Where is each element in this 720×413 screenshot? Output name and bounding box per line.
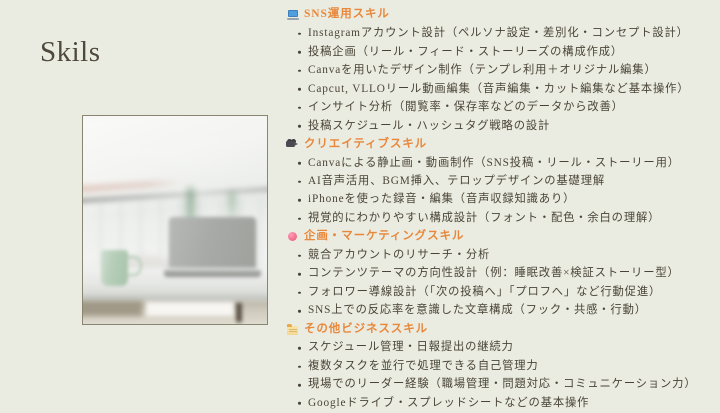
group-heading-marketing: 企画・マーケティングスキル <box>286 228 716 247</box>
skill-group-business: その他ビジネススキル スケジュール管理・日報提出の継続力 複数タスクを並行で処理… <box>286 320 716 412</box>
list-item: 視覚的にわかりやすい構成設計（フォント・配色・余白の理解） <box>297 209 716 227</box>
skill-group-marketing: 企画・マーケティングスキル 競合アカウントのリサーチ・分析 コンテンツテーマの方… <box>286 228 716 320</box>
group-heading-creative: クリエイティブスキル <box>286 135 716 154</box>
page-title: Skils <box>40 38 101 67</box>
list-item: Capcut, VLLOリール動画編集（音声編集・カット編集など基本操作） <box>297 80 716 98</box>
bullet-list-creative: Canvaによる静止画・動画制作（SNS投稿・リール・ストーリー用） AI音声活… <box>286 154 716 228</box>
photo-under-desk-shadow <box>83 301 142 316</box>
list-item: インサイト分析（閲覧率・保存率などのデータから改善） <box>297 98 716 116</box>
skill-group-creative: クリエイティブスキル Canvaによる静止画・動画制作（SNS投稿・リール・スト… <box>286 135 716 227</box>
list-item: 競合アカウントのリサーチ・分析 <box>297 246 716 264</box>
group-heading-label: クリエイティブスキル <box>304 139 427 151</box>
list-item: 投稿企画（リール・フィード・ストーリーズの構成作成） <box>297 43 716 61</box>
bullet-list-business: スケジュール管理・日報提出の継続力 複数タスクを並行で処理できる自己管理力 現場… <box>286 339 716 413</box>
group-heading-sns: SNS運用スキル <box>286 6 716 25</box>
clipboard-icon <box>286 323 299 336</box>
left-column: Skils <box>0 0 280 405</box>
laptop-desk-photo <box>83 116 267 324</box>
list-item: AI音声活用、BGM挿入、テロップデザインの基礎理解 <box>297 172 716 190</box>
skills-list: SNS運用スキル Instagramアカウント設計（ペルソナ設定・差別化・コンセ… <box>286 6 716 401</box>
list-item: SNS上での反応率を意識した文章構成（フック・共感・行動） <box>297 302 716 320</box>
photo-table-leg <box>236 303 242 322</box>
pink-dot-icon <box>286 230 299 243</box>
list-item: フォロワー導線設計（「次の投稿へ」「プロフへ」など行動促進） <box>297 283 716 301</box>
list-item: Canvaによる静止画・動画制作（SNS投稿・リール・ストーリー用） <box>297 154 716 172</box>
photo-laptop-base <box>164 270 262 277</box>
movie-camera-icon <box>286 138 299 151</box>
list-item: 投稿スケジュール・ハッシュタグ戦略の設計 <box>297 117 716 135</box>
laptop-icon <box>286 9 299 22</box>
group-heading-label: 企画・マーケティングスキル <box>304 231 464 243</box>
group-heading-label: SNS運用スキル <box>304 9 390 21</box>
list-item: スケジュール管理・日報提出の継続力 <box>297 339 716 357</box>
photo-frame <box>82 115 268 325</box>
list-item: コンテンツテーマの方向性設計（例：睡眠改善×検証ストーリー型） <box>297 265 716 283</box>
bullet-list-sns: Instagramアカウント設計（ペルソナ設定・差別化・コンセプト設計） 投稿企… <box>286 25 716 136</box>
group-heading-business: その他ビジネススキル <box>286 320 716 339</box>
list-item: 現場でのリーダー経験（職場管理・問題対応・コミュニケーション力） <box>297 376 716 394</box>
slide-canvas: Skils <box>0 0 720 405</box>
list-item: Instagramアカウント設計（ペルソナ設定・差別化・コンセプト設計） <box>297 25 716 43</box>
list-item: Canvaを用いたデザイン制作（テンプレ利用＋オリジナル編集） <box>297 61 716 79</box>
bullet-list-marketing: 競合アカウントのリサーチ・分析 コンテンツテーマの方向性設計（例：睡眠改善×検証… <box>286 246 716 320</box>
photo-under-desk-highlight <box>146 302 234 316</box>
photo-laptop-lid <box>169 217 255 272</box>
list-item: 複数タスクを並行で処理できる自己管理力 <box>297 357 716 375</box>
photo-mug-handle <box>126 256 142 276</box>
photo-mug <box>101 250 128 285</box>
photo-desk-edge <box>83 294 267 301</box>
list-item: Googleドライブ・スプレッドシートなどの基本操作 <box>297 394 716 412</box>
skill-group-sns: SNS運用スキル Instagramアカウント設計（ペルソナ設定・差別化・コンセ… <box>286 6 716 135</box>
group-heading-label: その他ビジネススキル <box>304 324 428 336</box>
list-item: iPhoneを使った録音・編集（音声収録知識あり） <box>297 191 716 209</box>
